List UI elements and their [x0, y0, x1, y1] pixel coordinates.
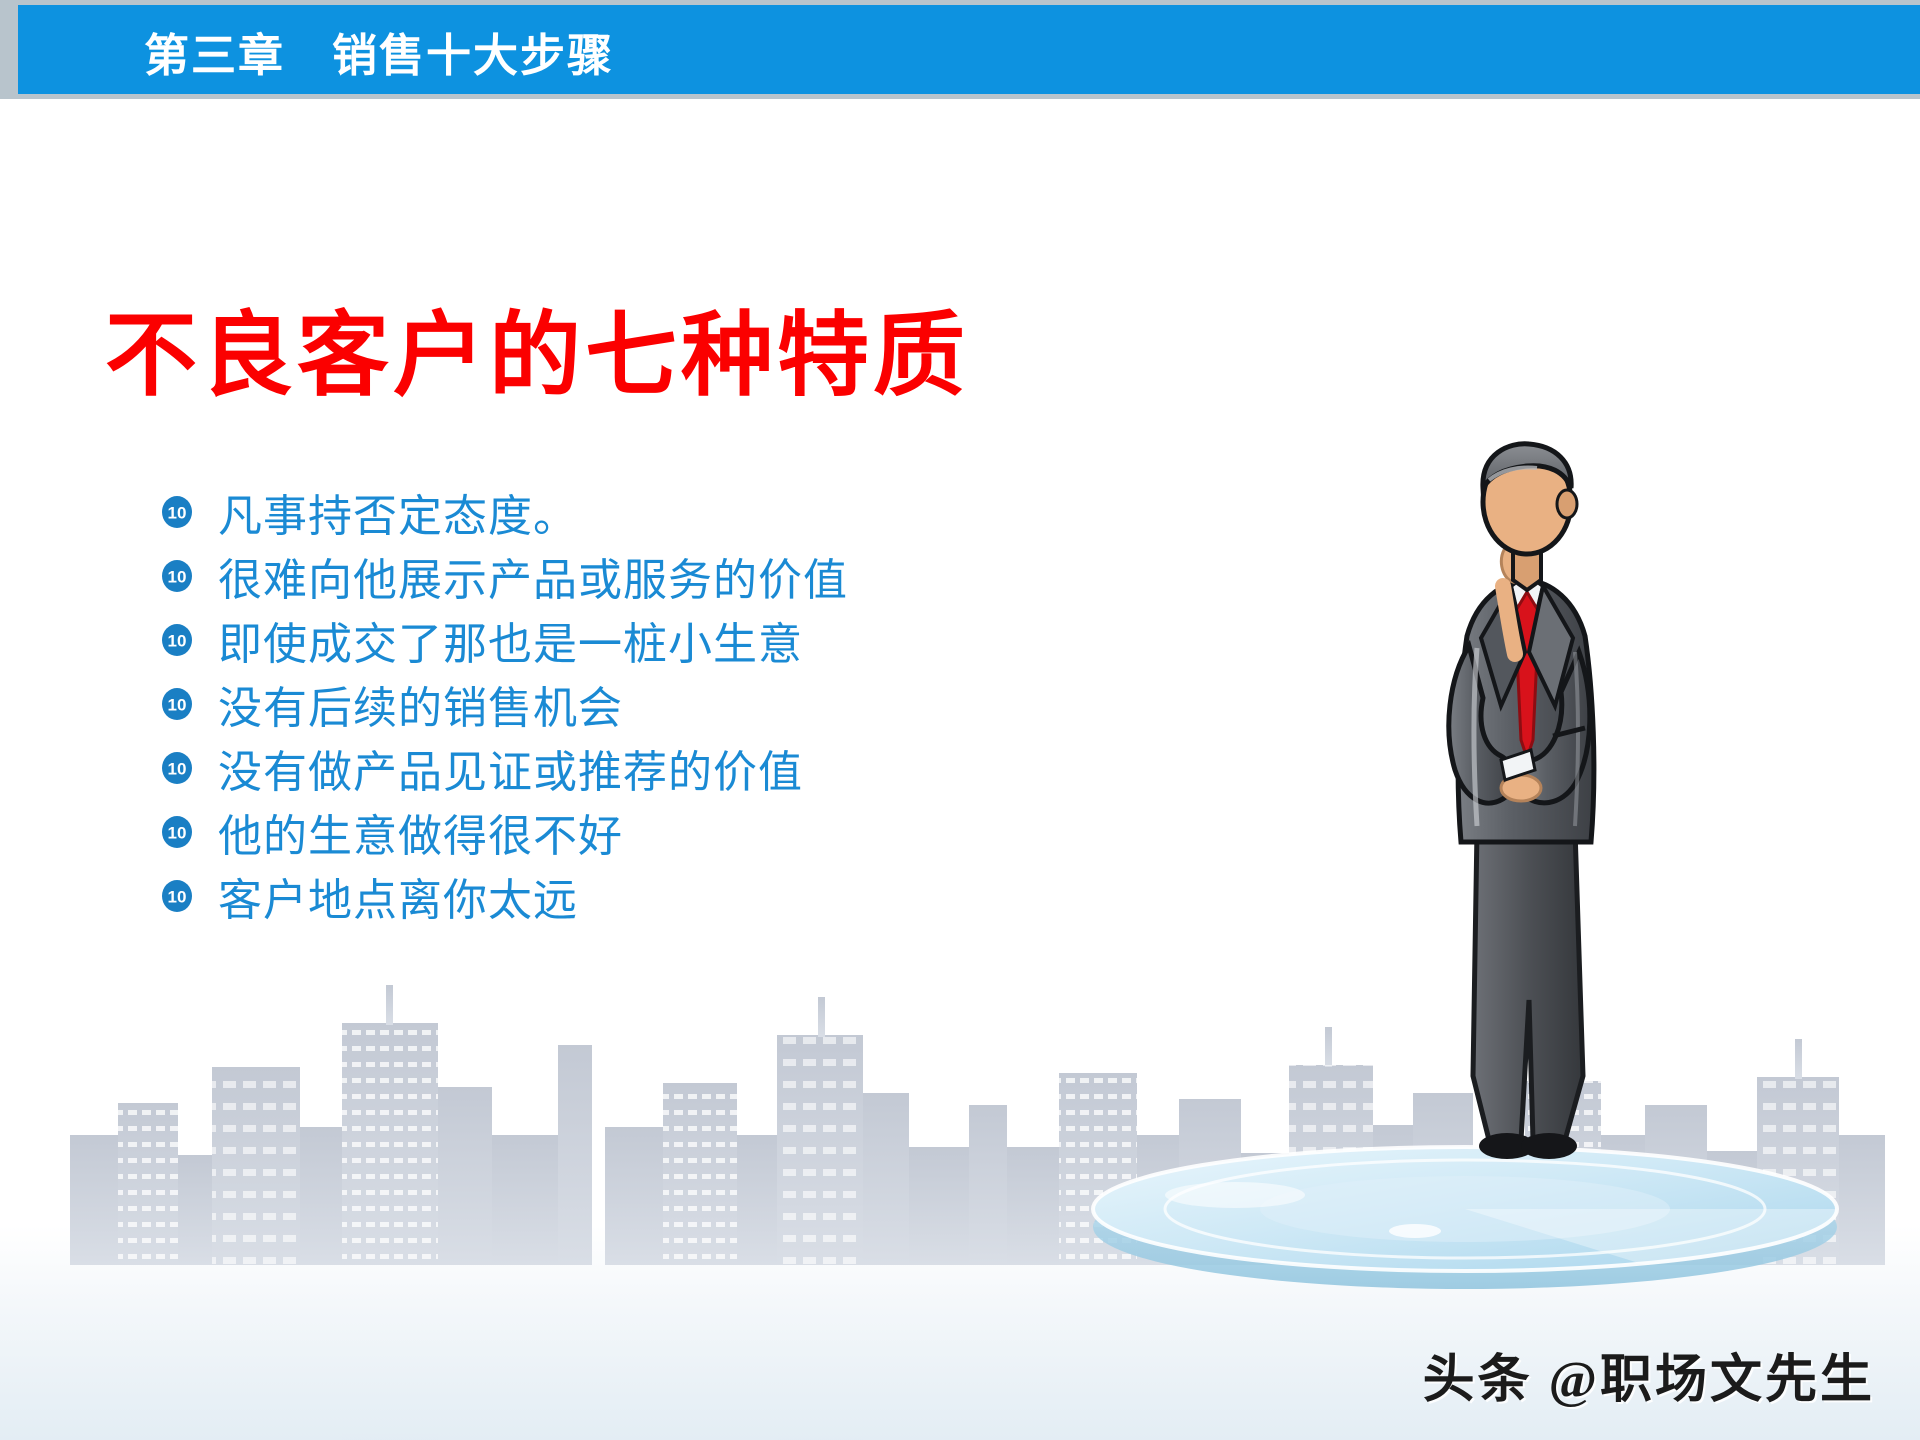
circled-number-ten-icon: 10: [160, 623, 204, 657]
circled-number-ten-icon: 10: [160, 751, 204, 785]
circled-number-ten-icon: 10: [160, 879, 204, 913]
list-item: 10 他的生意做得很不好: [160, 800, 1140, 864]
list-item-label: 他的生意做得很不好: [218, 800, 623, 864]
circled-number-ten-icon: 10: [160, 687, 204, 721]
list-item: 10 即使成交了那也是一桩小生意: [160, 608, 1140, 672]
list-item-label: 客户地点离你太远: [218, 864, 578, 928]
circled-number-ten-icon: 10: [160, 559, 204, 593]
svg-text:10: 10: [168, 504, 187, 523]
svg-text:10: 10: [168, 888, 187, 907]
circled-number-ten-icon: 10: [160, 815, 204, 849]
svg-text:10: 10: [168, 696, 187, 715]
watermark-text: 头条 @职场文先生: [1423, 1337, 1875, 1412]
list-item: 10 没有做产品见证或推荐的价值: [160, 736, 1140, 800]
list-item-label: 没有做产品见证或推荐的价值: [218, 736, 803, 800]
list-item: 10 凡事持否定态度。: [160, 480, 1140, 544]
list-item-label: 没有后续的销售机会: [218, 672, 623, 736]
list-item: 10 客户地点离你太远: [160, 864, 1140, 928]
page-title: 不良客户的七种特质: [105, 310, 969, 402]
slide-canvas: 第三章 销售十大步骤: [0, 0, 1920, 1440]
chapter-title: 第三章 销售十大步骤: [144, 19, 614, 84]
circled-number-ten-icon: 10: [160, 495, 204, 529]
svg-text:10: 10: [168, 568, 187, 587]
list-item-label: 即使成交了那也是一桩小生意: [218, 608, 803, 672]
thinking-businessman-illustration: [1415, 440, 1635, 1200]
svg-text:10: 10: [168, 632, 187, 651]
list-item-label: 凡事持否定态度。: [218, 480, 578, 544]
svg-text:10: 10: [168, 760, 187, 779]
chapter-banner: 第三章 销售十大步骤: [18, 5, 1920, 94]
list-item-label: 很难向他展示产品或服务的价值: [218, 544, 848, 608]
svg-text:10: 10: [168, 824, 187, 843]
list-item: 10 没有后续的销售机会: [160, 672, 1140, 736]
list-item: 10 很难向他展示产品或服务的价值: [160, 544, 1140, 608]
banner-frame: 第三章 销售十大步骤: [0, 0, 1920, 99]
characteristics-list: 10 凡事持否定态度。 10 很难向他展示产品或服务的价值 10 即使成交了: [160, 480, 1140, 928]
